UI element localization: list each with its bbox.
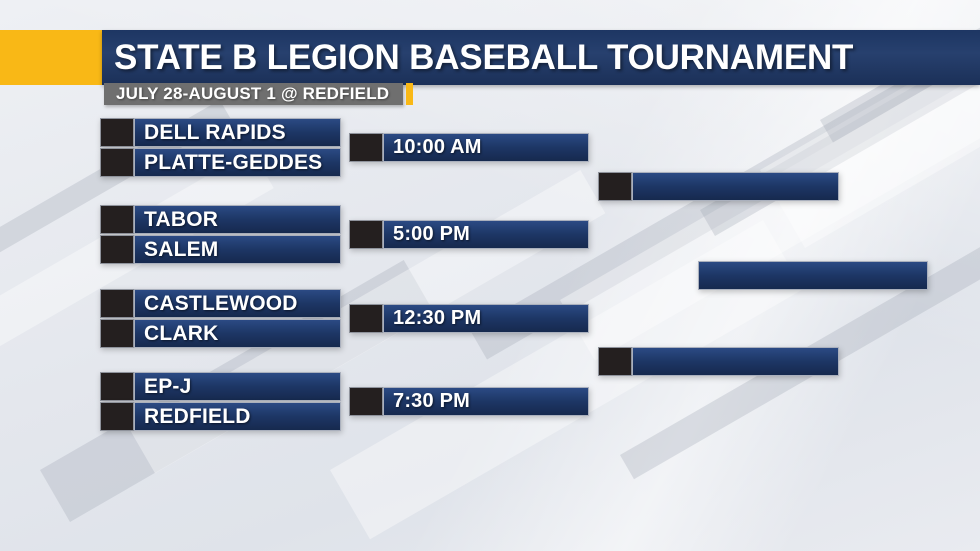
team-name-bar: EP-J [134, 372, 341, 401]
table-row: TABOR [100, 205, 341, 234]
team-name: SALEM [144, 238, 219, 262]
team-name: DELL RAPIDS [144, 121, 286, 145]
tournament-bracket-graphic: STATE B LEGION BASEBALL TOURNAMENT JULY … [0, 0, 980, 551]
team-name-bar: REDFIELD [134, 402, 341, 431]
team-name: PLATTE-GEDDES [144, 151, 322, 175]
game-time-row: 5:00 PM [349, 220, 589, 249]
team-name: EP-J [144, 375, 192, 399]
table-row: CLARK [100, 319, 341, 348]
team-name-bar: TABOR [134, 205, 341, 234]
game-time-bar: 5:00 PM [383, 220, 589, 249]
team-logo-icon [100, 402, 134, 431]
header-subtitle: JULY 28-AUGUST 1 @ REDFIELD [104, 83, 413, 105]
team-name-bar: CLARK [134, 319, 341, 348]
game-time: 5:00 PM [393, 223, 470, 246]
team-logo-icon [100, 118, 134, 147]
game-time-bar: 12:30 PM [383, 304, 589, 333]
game-time: 12:30 PM [393, 307, 481, 330]
game-marker-icon [349, 220, 383, 249]
game-time-row: 7:30 PM [349, 387, 589, 416]
team-name-bar: CASTLEWOOD [134, 289, 341, 318]
table-row: REDFIELD [100, 402, 341, 431]
table-row: CASTLEWOOD [100, 289, 341, 318]
championship-slot [698, 261, 928, 290]
game-marker-icon [349, 304, 383, 333]
page-title: STATE B LEGION BASEBALL TOURNAMENT [102, 38, 853, 78]
team-name-bar: SALEM [134, 235, 341, 264]
team-name: CASTLEWOOD [144, 292, 298, 316]
semifinal-slot [598, 172, 839, 201]
table-row: PLATTE-GEDDES [100, 148, 341, 177]
semifinal-slot [598, 347, 839, 376]
table-row: EP-J [100, 372, 341, 401]
semifinal-name-bar [632, 172, 839, 201]
semifinal-name-bar [632, 347, 839, 376]
subtitle-accent-tick [406, 83, 413, 105]
game-time: 10:00 AM [393, 136, 482, 159]
game-time-row: 10:00 AM [349, 133, 589, 162]
game-time-row: 12:30 PM [349, 304, 589, 333]
team-logo-icon [100, 289, 134, 318]
header-accent-bar [0, 30, 102, 85]
table-row: SALEM [100, 235, 341, 264]
subtitle-text: JULY 28-AUGUST 1 @ REDFIELD [116, 84, 389, 104]
team-logo-icon [100, 235, 134, 264]
team-name-bar: DELL RAPIDS [134, 118, 341, 147]
background-band [560, 60, 980, 361]
table-row: DELL RAPIDS [100, 118, 341, 147]
team-logo-icon [598, 347, 632, 376]
team-name: TABOR [144, 208, 218, 232]
team-logo-icon [100, 148, 134, 177]
team-logo-icon [100, 372, 134, 401]
championship-name-bar [698, 261, 928, 290]
game-marker-icon [349, 387, 383, 416]
team-logo-icon [598, 172, 632, 201]
game-time-bar: 10:00 AM [383, 133, 589, 162]
game-time: 7:30 PM [393, 390, 470, 413]
team-name: CLARK [144, 322, 219, 346]
team-logo-icon [100, 319, 134, 348]
team-logo-icon [100, 205, 134, 234]
team-name: REDFIELD [144, 405, 251, 429]
game-time-bar: 7:30 PM [383, 387, 589, 416]
game-marker-icon [349, 133, 383, 162]
team-name-bar: PLATTE-GEDDES [134, 148, 341, 177]
subtitle-bar: JULY 28-AUGUST 1 @ REDFIELD [104, 83, 403, 105]
header-title-bar: STATE B LEGION BASEBALL TOURNAMENT [102, 30, 980, 85]
